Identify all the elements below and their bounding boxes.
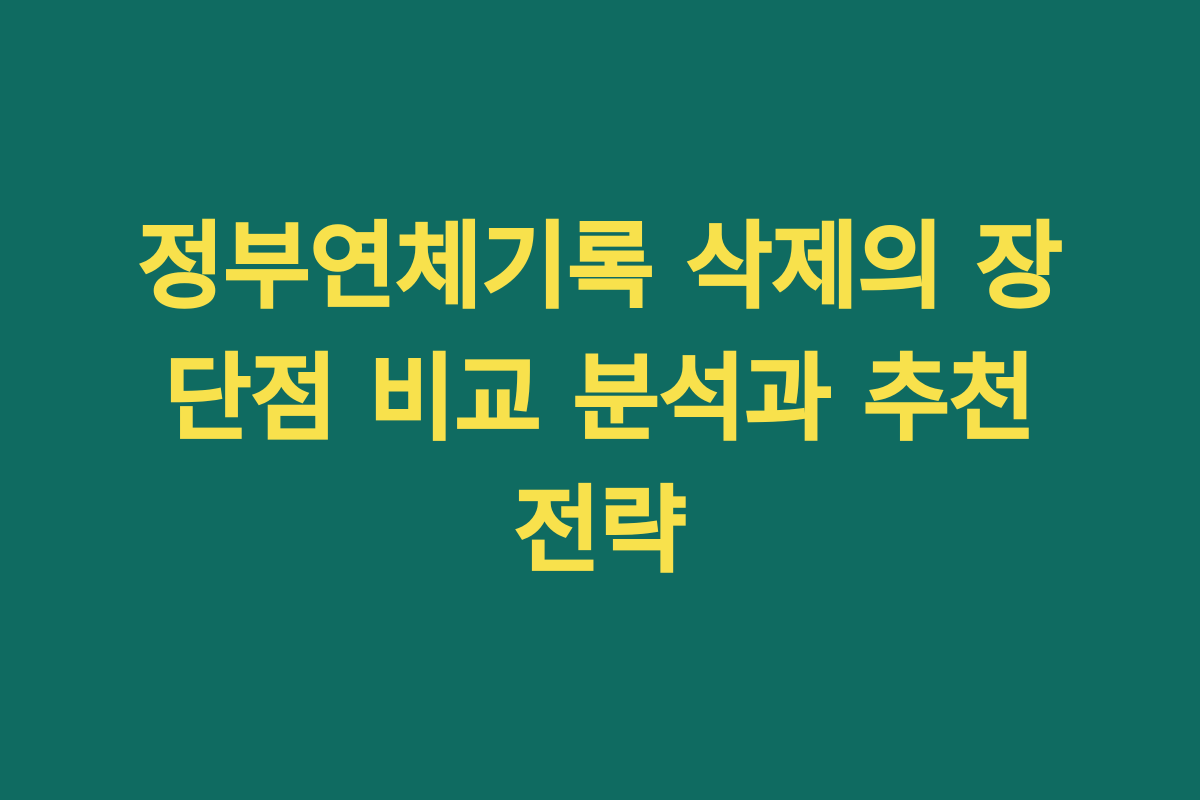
title-line-3: 전략 — [110, 466, 1090, 598]
title-line-1: 정부연체기록 삭제의 장 — [110, 202, 1090, 334]
title-block: 정부연체기록 삭제의 장 단점 비교 분석과 추천 전략 — [100, 202, 1100, 598]
title-line-2: 단점 비교 분석과 추천 — [110, 334, 1090, 466]
thumbnail-canvas: 정부연체기록 삭제의 장 단점 비교 분석과 추천 전략 — [0, 0, 1200, 800]
